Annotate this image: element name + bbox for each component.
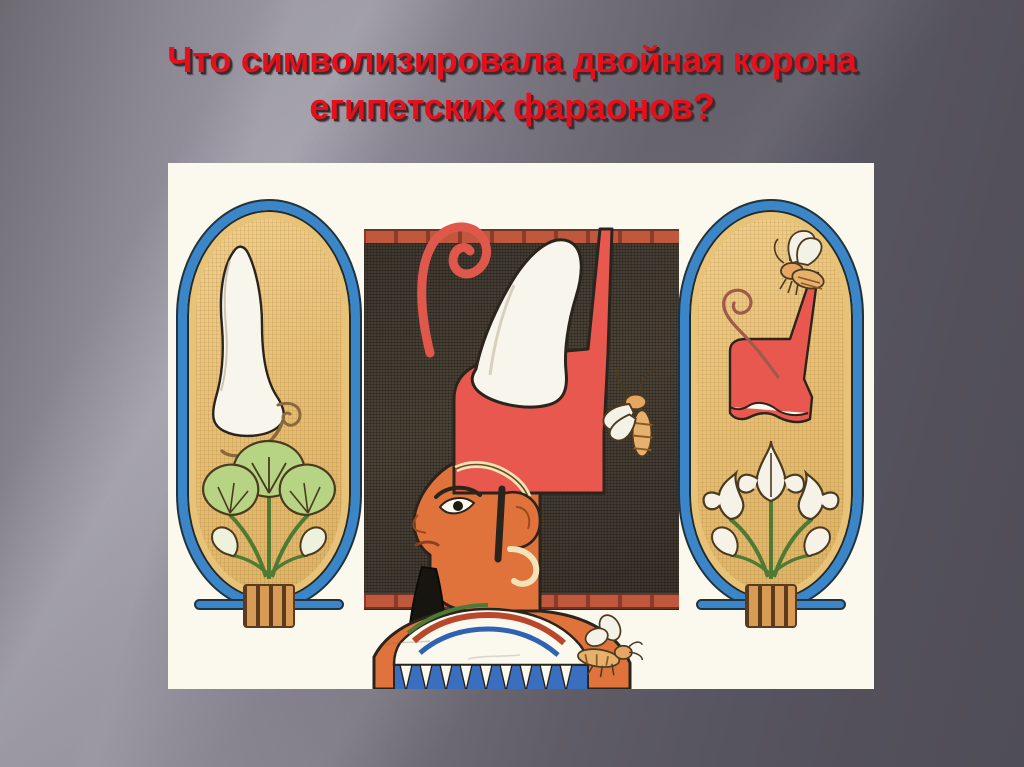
title-line-1: Что символизировала двойная корона bbox=[167, 39, 856, 80]
illustration-image bbox=[168, 163, 874, 689]
page-title: Что символизировала двойная корона египе… bbox=[0, 36, 1024, 130]
title-line-2: египетских фараонов? bbox=[0, 83, 1024, 130]
paper-pencil-marks bbox=[168, 163, 874, 689]
slide-canvas: Что символизировала двойная корона египе… bbox=[0, 0, 1024, 767]
